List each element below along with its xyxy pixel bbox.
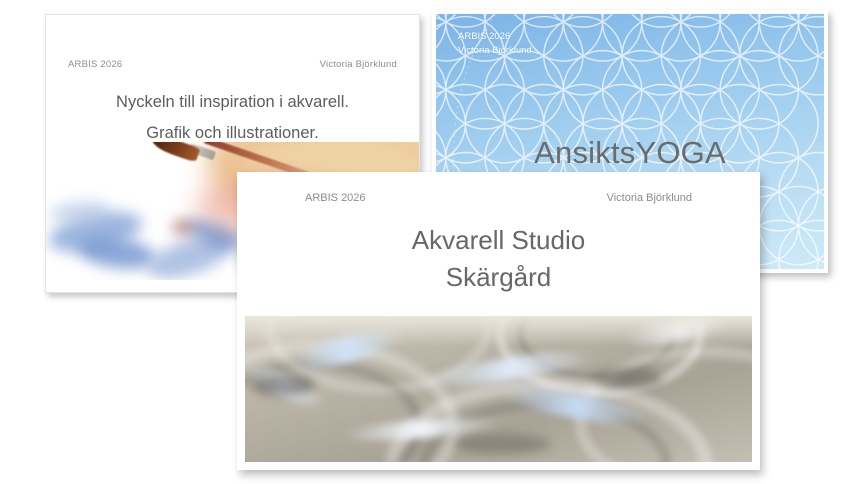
slide1-header-left: ARBIS 2026 [68,59,122,70]
slide3-header-right: Victoria Björklund [607,192,692,204]
slide1-header-right: Victoria Björklund [320,59,397,70]
slide3-title-line2: Skärgård [241,259,756,296]
slide2-header-right: Victoria Björklund [458,44,532,58]
slide3-header: ARBIS 2026 Victoria Björklund [241,190,756,206]
slide3-water-image [245,316,752,462]
slide2-title: AnsiktsYOGA [436,135,824,171]
slide-deck-canvas: ARBIS 2026 Victoria Björklund Nyckeln ti… [0,0,860,484]
slide2-header-left: ARBIS 2026 [458,30,532,44]
slide1-header: ARBIS 2026 Victoria Björklund [46,57,419,71]
slide1-title-line1: Nyckeln till inspiration i akvarell. [46,87,419,118]
slide1-title: Nyckeln till inspiration i akvarell. Gra… [46,87,419,149]
slide-thumbnail-akvarell-studio-skargard[interactable]: ARBIS 2026 Victoria Björklund Akvarell S… [237,172,760,470]
slide2-header: ARBIS 2026 Victoria Björklund [458,30,532,58]
slide3-title: Akvarell Studio Skärgård [241,222,756,296]
slide3-header-left: ARBIS 2026 [305,192,366,204]
slide3-title-line1: Akvarell Studio [241,222,756,259]
